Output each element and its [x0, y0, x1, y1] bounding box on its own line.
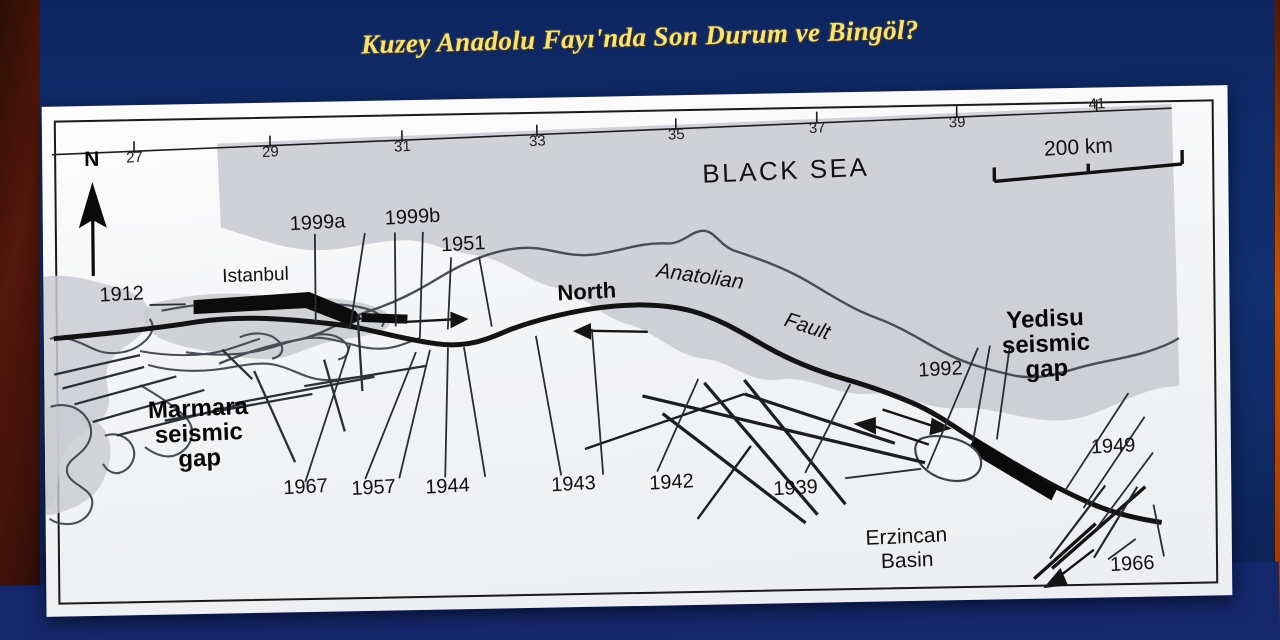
scale-bar-label: 200 km: [1044, 134, 1114, 162]
eastern-cross-faults: [642, 377, 925, 526]
year-label-1967: 1967: [283, 475, 328, 500]
year-label-1999a: 1999a: [289, 210, 346, 236]
longitude-tick-35: 35: [668, 126, 685, 144]
longitude-tick-31: 31: [394, 138, 411, 156]
longitude-tick-27: 27: [126, 149, 143, 167]
istanbul-label: Istanbul: [222, 264, 289, 288]
eastern-cross-faults-thin: [584, 394, 751, 521]
year-label-1957: 1957: [351, 476, 396, 501]
fault-label-north: North: [557, 277, 617, 306]
erzincan-basin-line1: Erzincan: [865, 523, 947, 550]
year-label-1966: 1966: [1110, 552, 1155, 577]
longitude-tick-39: 39: [948, 114, 965, 132]
marmara-gap-line3: gap: [149, 444, 250, 474]
marmara-gap-line2: seismic: [148, 419, 249, 449]
erzincan-basin-label: Erzincan Basin: [865, 523, 948, 574]
yedisu-gap-line3: gap: [1002, 355, 1091, 384]
year-label-1944: 1944: [425, 474, 470, 499]
marmara-seismic-gap-label: Marmara seismic gap: [147, 394, 250, 474]
longitude-tick-41: 41: [1088, 95, 1105, 113]
longitude-tick-37: 37: [808, 119, 825, 137]
sw-anatolia-shade: [45, 405, 111, 515]
year-label-1949: 1949: [1090, 434, 1135, 459]
longitude-tick-33: 33: [529, 132, 546, 150]
year-label-1912: 1912: [99, 282, 144, 307]
north-arrow-label: N: [84, 148, 99, 172]
longitude-tick-29: 29: [262, 143, 279, 161]
yedisu-gap-line2: seismic: [1002, 330, 1091, 359]
year-label-1999b: 1999b: [384, 205, 441, 231]
yedisu-seismic-gap-label: Yedisu seismic gap: [1001, 305, 1092, 384]
map-canvas: 27 29 31 33 35 37 39 41 N BLACK SEA 200 …: [42, 85, 1233, 617]
year-label-1951: 1951: [440, 232, 485, 257]
year-label-1992: 1992: [918, 357, 963, 382]
figure-sheet: 27 29 31 33 35 37 39 41 N BLACK SEA 200 …: [42, 85, 1233, 617]
slide-photo: Kuzey Anadolu Fayı'nda Son Durum ve Bing…: [0, 0, 1280, 640]
year-label-1942: 1942: [649, 470, 694, 495]
year-label-1939: 1939: [773, 476, 818, 501]
north-arrow: [78, 182, 107, 277]
year-label-1943: 1943: [551, 472, 596, 497]
erzincan-basin-line2: Basin: [866, 547, 948, 574]
